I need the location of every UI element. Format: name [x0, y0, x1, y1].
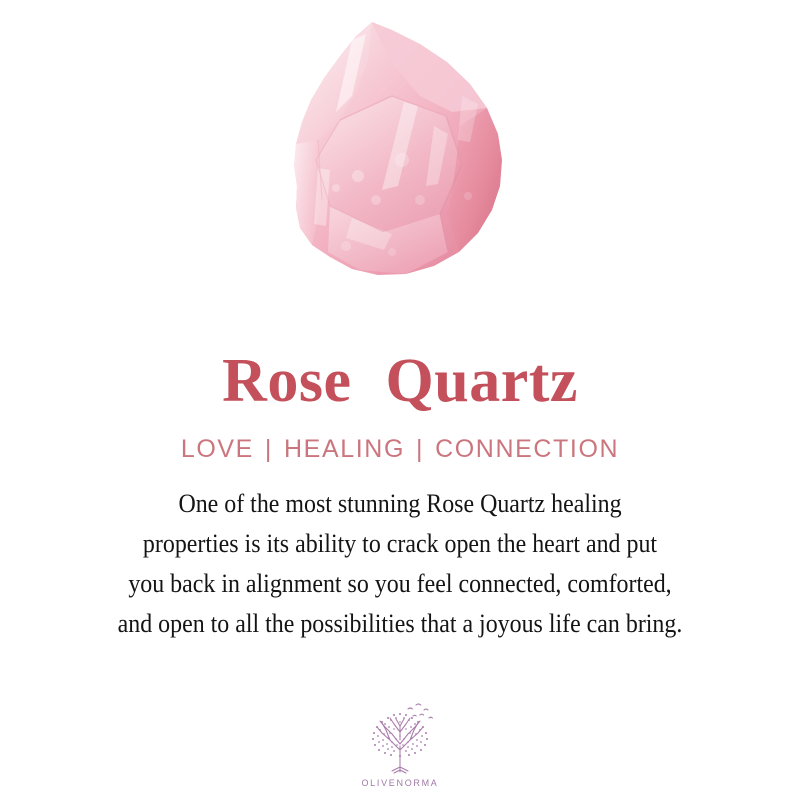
- description-text: One of the most stunning Rose Quartz hea…: [30, 462, 770, 644]
- keyword-love: LOVE: [181, 437, 254, 462]
- description-line: properties is its ability to crack open …: [60, 524, 741, 564]
- page-title: Rose Quartz: [222, 300, 578, 412]
- crystal-image-stage: [0, 0, 800, 300]
- tree-of-life-icon: [358, 700, 442, 776]
- keyword-healing: HEALING: [284, 437, 405, 462]
- rose-quartz-poster: Rose Quartz LOVE | HEALING | CONNECTION …: [0, 0, 800, 800]
- brand-logo: OLIVENORMA: [0, 700, 800, 788]
- keyword-connection: CONNECTION: [435, 437, 619, 462]
- crystal-body: [280, 10, 520, 290]
- keyword-list: LOVE | HEALING | CONNECTION: [181, 412, 619, 462]
- description-line: you back in alignment so you feel connec…: [60, 564, 741, 604]
- description-line: and open to all the possibilities that a…: [60, 604, 741, 644]
- keyword-separator: |: [405, 437, 435, 462]
- rose-quartz-crystal-image: [0, 0, 800, 300]
- brand-name: OLIVENORMA: [361, 778, 438, 788]
- description-line: One of the most stunning Rose Quartz hea…: [60, 484, 741, 524]
- keyword-separator: |: [254, 437, 284, 462]
